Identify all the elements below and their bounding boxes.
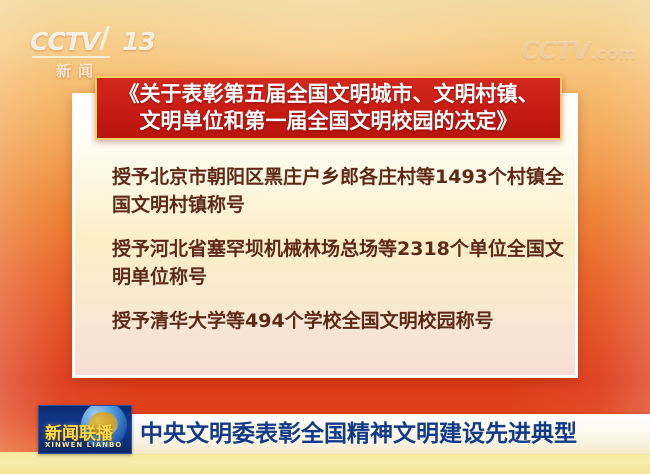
cctv-logo-row: CCTV 13 [30, 26, 160, 54]
cctv-dotcom-watermark: CCTV.com [521, 36, 636, 65]
cctv-channel-number: 13 [122, 29, 155, 54]
document-title-line-2: 文明单位和第一届全国文明校园的决定》 [140, 108, 518, 135]
document-paragraph: 授予北京市朝阳区黑庄户乡郎各庄村等1493个村镇全国文明村镇称号 [112, 163, 564, 219]
document-paragraph: 授予河北省塞罕坝机械林场总场等2318个单位全国文明单位称号 [112, 235, 564, 291]
xinwen-lianbo-logo: 新闻联播 XINWEN LIANBO [38, 405, 132, 454]
watermark-suffix: .com [590, 44, 636, 64]
headline-bar: 中央文明委表彰全国精神文明建设先进典型 [128, 414, 650, 454]
document-body: 授予北京市朝阳区黑庄户乡郎各庄村等1493个村镇全国文明村镇称号 授予河北省塞罕… [112, 163, 564, 335]
headline-text: 中央文明委表彰全国精神文明建设先进典型 [140, 423, 577, 446]
program-name-en: XINWEN LIANBO [45, 441, 122, 449]
cctv13-channel-logo: CCTV 13 新闻 [30, 26, 160, 72]
watermark-wordmark: CCTV [521, 36, 590, 65]
lower-third-yellow-strip [0, 452, 650, 474]
broadcast-frame: CCTV 13 新闻 CCTV.com 《关于表彰第五届全国文明城市、文明村镇、… [0, 0, 650, 474]
cctv-wordmark: CCTV [30, 29, 99, 54]
document-paragraph: 授予清华大学等494个学校全国文明校园称号 [112, 307, 564, 335]
document-title-banner: 《关于表彰第五届全国文明城市、文明村镇、 文明单位和第一届全国文明校园的决定》 [95, 76, 562, 140]
cctv-underline-rule [32, 56, 110, 58]
lower-third: 中央文明委表彰全国精神文明建设先进典型 新闻联播 XINWEN LIANBO [0, 400, 650, 474]
document-title-line-1: 《关于表彰第五届全国文明城市、文明村镇、 [119, 81, 539, 108]
cctv-slash-icon [99, 26, 123, 50]
